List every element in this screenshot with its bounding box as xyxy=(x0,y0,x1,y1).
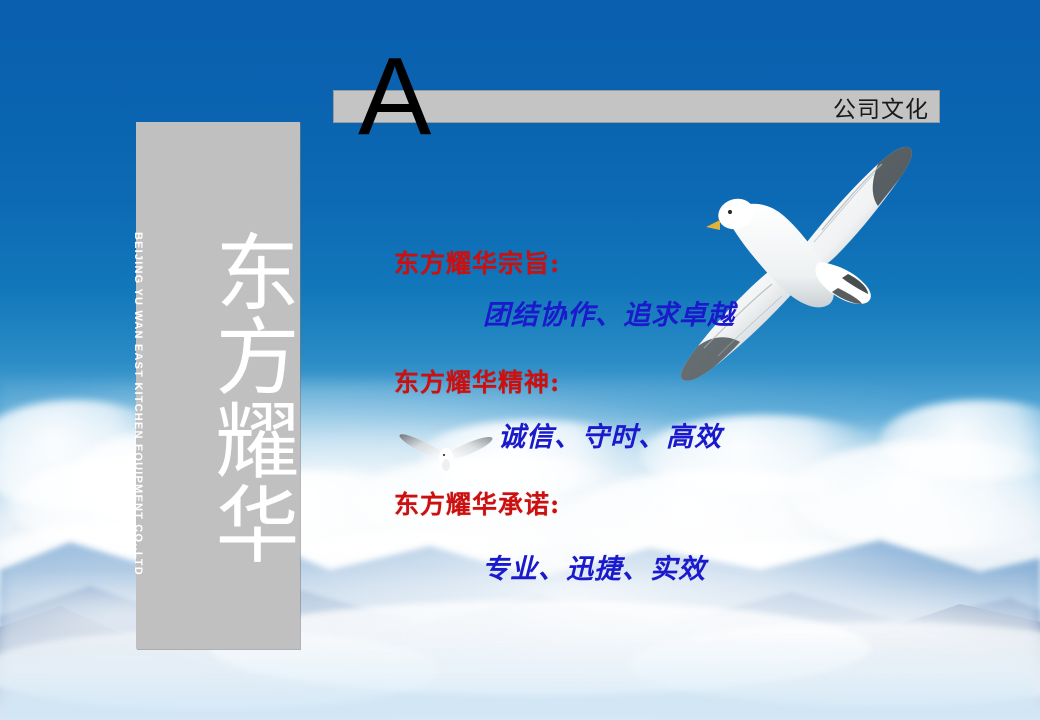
block-body-promise: 专业、迅捷、实效 xyxy=(482,547,706,586)
block-body-purpose: 团结协作、追求卓越 xyxy=(483,293,735,332)
block-heading-spirit: 东方耀华精神: xyxy=(394,363,560,399)
block-heading-purpose: 东方耀华宗旨: xyxy=(394,244,560,280)
block-heading-promise: 东方耀华承诺: xyxy=(394,485,560,521)
block-body-spirit: 诚信、守时、高效 xyxy=(498,415,722,454)
content-area: 东方耀华宗旨: 团结协作、追求卓越 东方耀华精神: 诚信、守时、高效 东方耀华承… xyxy=(0,0,1040,720)
slide-canvas: BEIJING YU WAN EAST KITCHEN EQUIPMENT CO… xyxy=(0,0,1040,720)
